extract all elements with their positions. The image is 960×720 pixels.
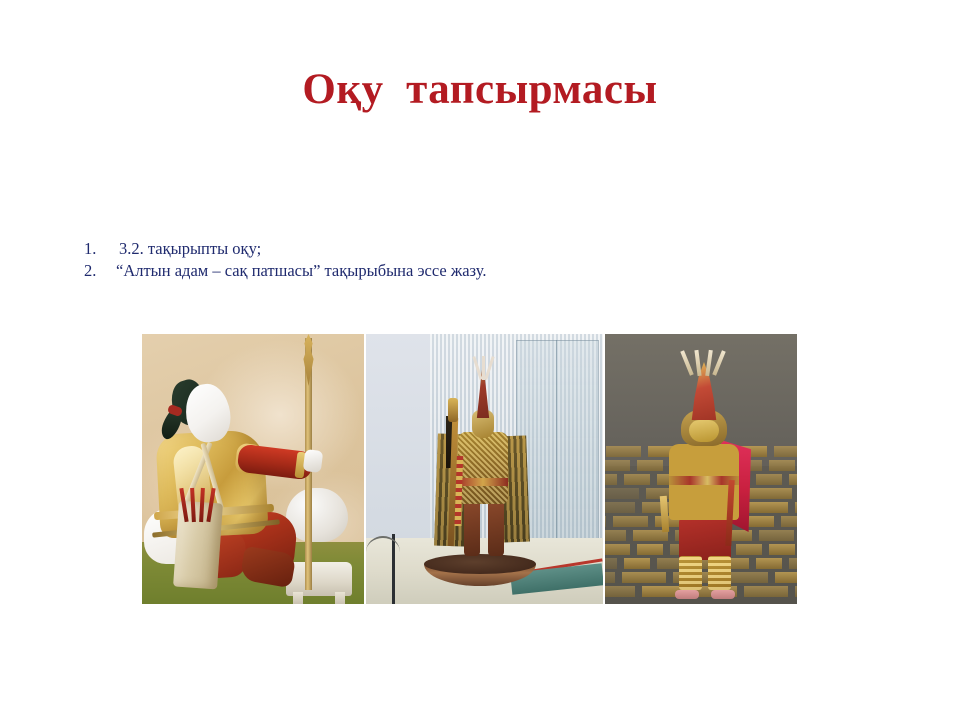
photo1-figure xyxy=(150,382,300,588)
photo2-armor-torso xyxy=(458,432,508,504)
photo2-figure xyxy=(432,360,530,560)
photo2-leg-right xyxy=(488,498,504,556)
list-item-marker: 1. xyxy=(84,238,119,260)
photo2-leg-left xyxy=(464,498,480,556)
slide-canvas: Оқу тапсырмасы 1. 3.2. тақырыпты оқу; 2.… xyxy=(0,0,960,720)
photo-golden-man-kneeling-painting xyxy=(142,334,364,604)
photo-golden-man-full-regalia xyxy=(605,334,797,604)
list-item-marker: 2. xyxy=(84,260,116,282)
task-list: 1. 3.2. тақырыпты оқу; 2. “Алтын адам – … xyxy=(84,238,724,282)
list-item-text: 3.2. тақырыпты оқу; xyxy=(119,238,261,260)
photo2-glass-edge xyxy=(556,340,557,550)
photo2-legs xyxy=(464,498,504,556)
photo3-feet xyxy=(675,590,735,600)
photo3-face-mask xyxy=(689,420,719,442)
photo-strip xyxy=(142,334,797,604)
photo2-belt xyxy=(458,478,508,486)
photo2-plume xyxy=(476,356,492,382)
photo3-figure xyxy=(653,360,757,598)
photo-golden-man-statue-museum xyxy=(366,334,603,604)
photo3-headdress-spikes xyxy=(683,350,725,378)
list-item: 1. 3.2. тақырыпты оқу; xyxy=(84,238,724,260)
page-title: Оқу тапсырмасы xyxy=(0,66,960,113)
photo3-arm-left xyxy=(660,496,669,532)
photo1-arrows xyxy=(180,488,216,522)
photo3-trousers xyxy=(679,518,731,560)
list-item: 2. “Алтын адам – сақ патшасы” тақырыбына… xyxy=(84,260,724,282)
photo2-sword-hilt xyxy=(448,398,458,422)
list-item-text: “Алтын адам – сақ патшасы” тақырыбына эс… xyxy=(116,260,486,282)
photo1-hand xyxy=(303,449,324,473)
